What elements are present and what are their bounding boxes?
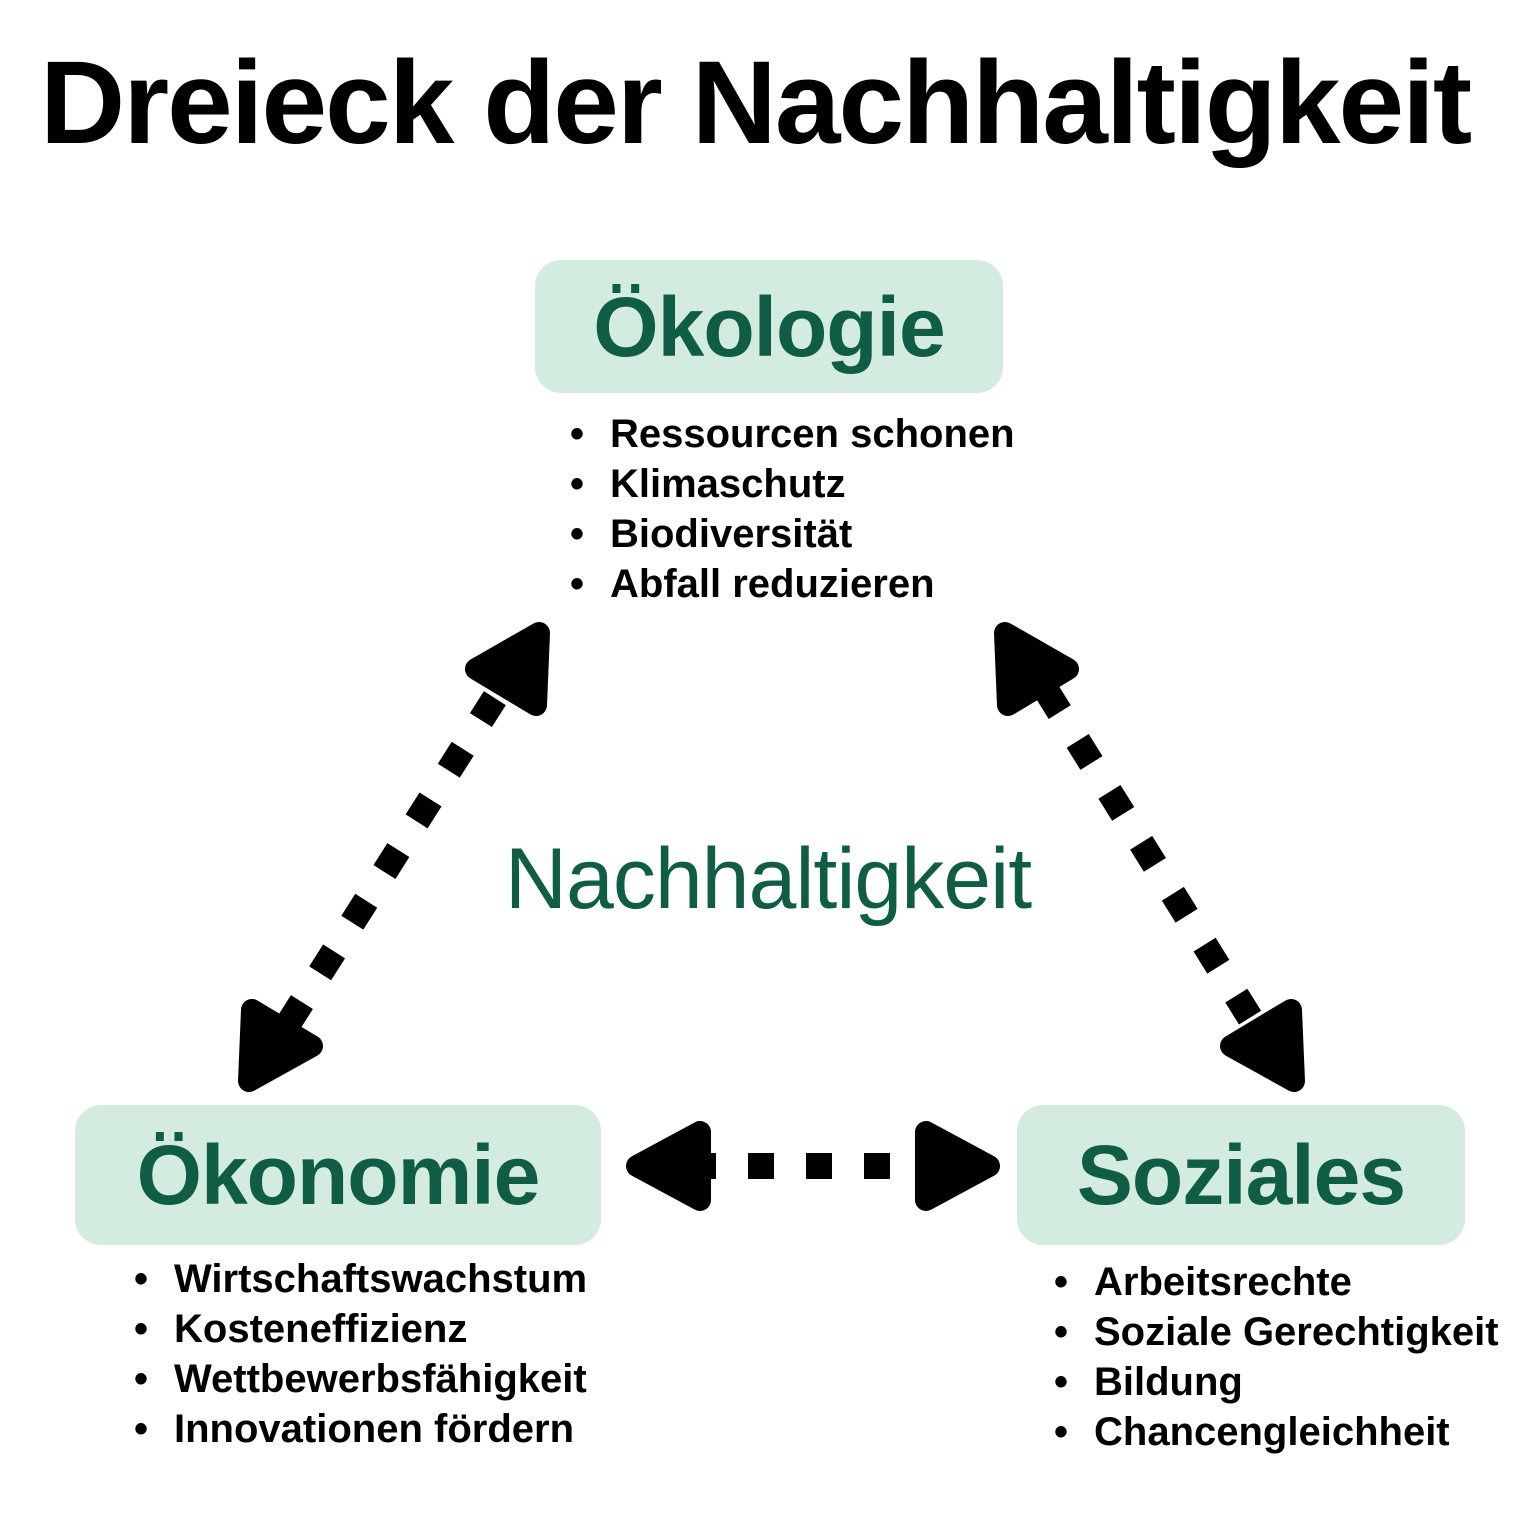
arrowhead-right [926, 1132, 989, 1200]
arrowhead-down-right [1231, 1010, 1294, 1081]
arrowhead-up-right [476, 633, 539, 705]
list-item: Arbeitsrechte [1054, 1257, 1499, 1307]
page-title: Dreieck der Nachhaltigkeit [40, 44, 1470, 162]
list-item: Innovationen fördern [134, 1404, 587, 1454]
node-heading-soziales[interactable]: Soziales [1017, 1105, 1465, 1245]
list-item: Soziale Gerechtigkeit [1054, 1307, 1499, 1357]
connector-oekonomie-soziales [637, 1132, 989, 1200]
list-item: Chancengleichheit [1054, 1407, 1499, 1457]
list-item: Bildung [1054, 1357, 1499, 1407]
list-item: Biodiversität [570, 509, 1015, 559]
list-item: Wettbewerbsfähigkeit [134, 1354, 587, 1404]
arrowhead-down-left [249, 1010, 312, 1081]
list-item: Abfall reduzieren [570, 559, 1015, 609]
node-list-oekologie: Ressourcen schonen Klimaschutz Biodivers… [570, 409, 1015, 609]
arrowhead-left [637, 1132, 700, 1200]
list-item: Kosteneffizienz [134, 1304, 587, 1354]
list-item: Klimaschutz [570, 459, 1015, 509]
center-label: Nachhaltigkeit [0, 836, 1536, 922]
node-heading-oekonomie[interactable]: Ökonomie [75, 1105, 601, 1245]
list-item: Ressourcen schonen [570, 409, 1015, 459]
node-list-oekonomie: Wirtschaftswachstum Kosteneffizienz Wett… [134, 1254, 587, 1454]
arrowhead-up-left [1005, 633, 1068, 705]
node-list-soziales: Arbeitsrechte Soziale Gerechtigkeit Bild… [1054, 1257, 1499, 1457]
list-item: Wirtschaftswachstum [134, 1254, 587, 1304]
node-heading-oekologie[interactable]: Ökologie [535, 260, 1003, 393]
sustainability-triangle-diagram: Dreieck der Nachhaltigkeit Ökol [0, 0, 1536, 1536]
